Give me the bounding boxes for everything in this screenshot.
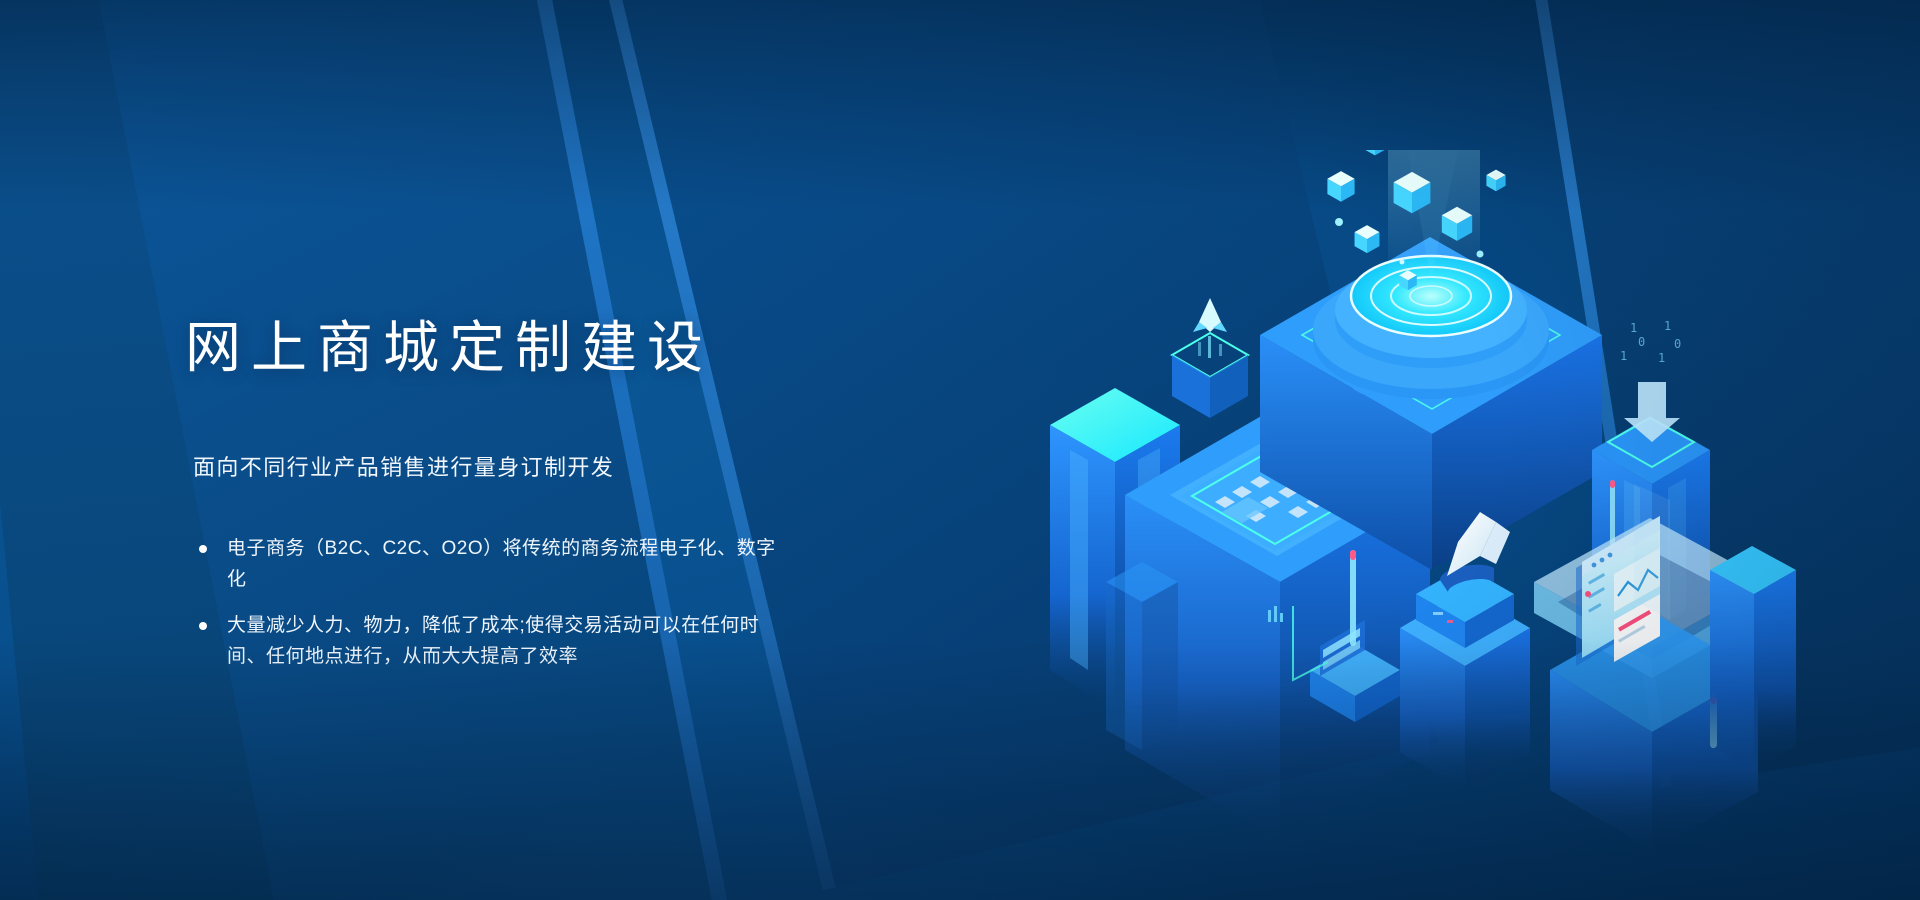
svg-text:0: 0 <box>1638 335 1645 349</box>
banner-stage: 10 10 11 <box>0 0 1920 900</box>
svg-text:1: 1 <box>1630 321 1637 335</box>
rocket-launch-pad <box>1172 298 1248 418</box>
banner-copy: 网上商城定制建设 面向不同行业产品销售进行量身订制开发 电子商务（B2C、C2C… <box>185 278 945 689</box>
bullet-dot-icon <box>199 622 207 630</box>
bottom-shade-overlay <box>0 640 1920 900</box>
svg-text:0: 0 <box>1674 337 1681 351</box>
list-item-text: 电子商务（B2C、C2C、O2O）将传统的商务流程电子化、数字化 <box>227 538 776 590</box>
list-item: 电子商务（B2C、C2C、O2O）将传统的商务流程电子化、数字化 <box>193 534 787 596</box>
svg-text:1: 1 <box>1620 349 1627 363</box>
subtitle: 面向不同行业产品销售进行量身订制开发 <box>193 450 945 482</box>
svg-text:1: 1 <box>1664 319 1671 333</box>
svg-text:1: 1 <box>1658 351 1665 365</box>
bullet-dot-icon <box>199 545 207 553</box>
page-title: 网上商城定制建设 <box>185 316 945 380</box>
